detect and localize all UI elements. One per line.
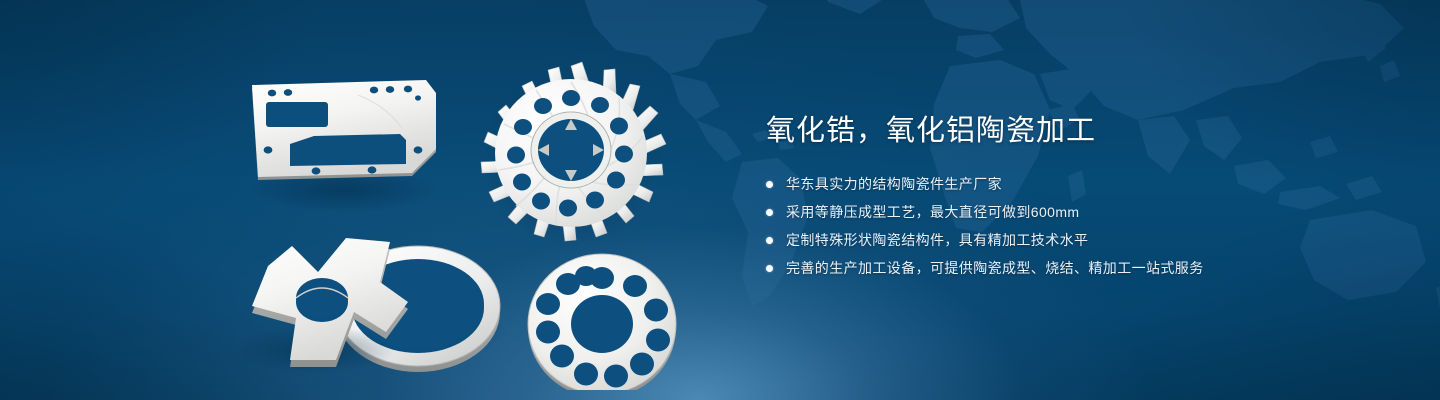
list-item: 采用等静压成型工艺，最大直径可做到600mm — [766, 202, 1326, 223]
product-photo-group — [230, 40, 730, 390]
ceramic-cross-plate — [235, 238, 408, 374]
list-item-label: 定制特殊形状陶瓷结构件，具有精加工技术水平 — [786, 230, 1088, 251]
ceramic-plate — [250, 80, 440, 212]
bullet-dot-icon — [766, 209, 773, 216]
hero-copy: 氧化锆，氧化铝陶瓷加工 华东具实力的结构陶瓷件生产厂家 采用等静压成型工艺，最大… — [766, 112, 1326, 286]
list-item: 定制特殊形状陶瓷结构件，具有精加工技术水平 — [766, 230, 1326, 251]
list-item: 完善的生产加工设备，可提供陶瓷成型、烧结、精加工一站式服务 — [766, 258, 1326, 279]
list-item-label: 采用等静压成型工艺，最大直径可做到600mm — [786, 202, 1079, 223]
bullet-dot-icon — [766, 237, 773, 244]
feature-list: 华东具实力的结构陶瓷件生产厂家 采用等静压成型工艺，最大直径可做到600mm 定… — [766, 174, 1326, 279]
list-item-label: 华东具实力的结构陶瓷件生产厂家 — [786, 174, 1002, 195]
bullet-dot-icon — [766, 181, 773, 188]
hero-banner: 氧化锆，氧化铝陶瓷加工 华东具实力的结构陶瓷件生产厂家 采用等静压成型工艺，最大… — [0, 0, 1440, 400]
page-title: 氧化锆，氧化铝陶瓷加工 — [766, 112, 1326, 150]
list-item-label: 完善的生产加工设备，可提供陶瓷成型、烧结、精加工一站式服务 — [786, 258, 1204, 279]
ceramic-perforated-disc — [526, 254, 678, 390]
list-item: 华东具实力的结构陶瓷件生产厂家 — [766, 174, 1326, 195]
bullet-dot-icon — [766, 265, 773, 272]
ceramic-impeller — [479, 62, 666, 246]
